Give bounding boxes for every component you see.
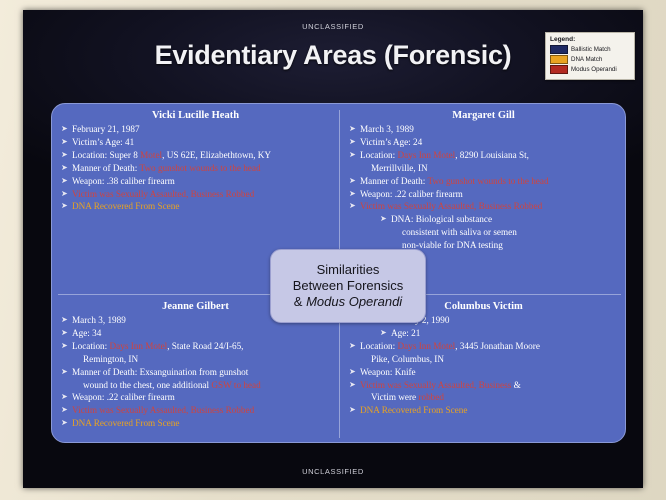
fact-item: ➤Location: Super 8 Motel, US 62E, Elizab… — [61, 149, 330, 161]
bullet-arrow-icon: ➤ — [349, 379, 356, 391]
bullet-arrow-icon: ➤ — [380, 327, 387, 339]
fact-text: Two gunshot wounds to the head — [427, 176, 548, 186]
fact-text: Victim’s Age: 24 — [360, 137, 422, 147]
legend-color-swatch — [550, 45, 568, 54]
fact-item: non-viable for DNA testing — [391, 239, 618, 251]
fact-item: ➤Location: Days Inn Motel, 3445 Jonathan… — [349, 340, 618, 352]
legend-item: Ballistic Match — [550, 45, 630, 54]
fact-item: ➤Location: Days Inn Motel, State Road 24… — [61, 340, 330, 352]
victim-name: Vicki Lucille Heath — [61, 110, 330, 121]
legend-box: Legend: Ballistic MatchDNA MatchModus Op… — [545, 32, 635, 80]
legend-item: Modus Operandi — [550, 65, 630, 74]
bullet-arrow-icon: ➤ — [61, 366, 68, 378]
fact-item: ➤Victim’s Age: 24 — [349, 136, 618, 148]
fact-text: Days Inn Motel — [398, 341, 456, 351]
fact-text: consistent with saliva or semen — [402, 227, 517, 237]
bullet-arrow-icon: ➤ — [349, 123, 356, 135]
fact-text: robbed — [418, 392, 444, 402]
bullet-arrow-icon: ➤ — [380, 213, 387, 225]
fact-text: Age: 34 — [72, 328, 101, 338]
legend-title: Legend: — [550, 36, 630, 43]
fact-text: Age: 21 — [391, 328, 420, 338]
bullet-arrow-icon: ➤ — [61, 327, 68, 339]
fact-item: ➤Victim was Sexually Assaulted, Business… — [349, 200, 618, 212]
fact-item: ➤Weapon: Knife — [349, 366, 618, 378]
fact-item: ➤DNA Recovered From Scene — [61, 200, 330, 212]
bullet-arrow-icon: ➤ — [61, 404, 68, 416]
bullet-arrow-icon: ➤ — [61, 162, 68, 174]
fact-text: Two gunshot wounds to the head — [139, 163, 260, 173]
bullet-arrow-icon: ➤ — [349, 366, 356, 378]
bullet-arrow-icon: ➤ — [61, 391, 68, 403]
fact-text: Remington, IN — [83, 354, 138, 364]
fact-text: Weapon: .22 caliber firearm — [360, 189, 463, 199]
fact-text: DNA: Biological substance — [391, 214, 492, 224]
fact-text: Days Inn Motel — [398, 150, 456, 160]
callout-line-1: Similarities — [317, 262, 380, 278]
fact-item: ➤February 21, 1987 — [61, 123, 330, 135]
bullet-arrow-icon: ➤ — [61, 200, 68, 212]
bullet-arrow-icon: ➤ — [61, 175, 68, 187]
fact-item: ➤Victim was Sexually Assaulted, Business… — [61, 188, 330, 200]
bullet-arrow-icon: ➤ — [61, 417, 68, 429]
bullet-arrow-icon: ➤ — [61, 314, 68, 326]
fact-text: Victim was Sexually Assaulted, Business … — [360, 201, 542, 211]
callout-line-3-italic: Modus Operandi — [306, 294, 402, 309]
bullet-arrow-icon: ➤ — [349, 340, 356, 352]
fact-text: Pike, Columbus, IN — [371, 354, 444, 364]
bullet-arrow-icon: ➤ — [61, 188, 68, 200]
fact-text: Victim was Sexually Assaulted, Business — [360, 380, 511, 390]
fact-item: ➤DNA Recovered From Scene — [349, 404, 618, 416]
fact-text: DNA Recovered From Scene — [360, 405, 467, 415]
fact-item: ➤Weapon: .38 caliber firearm — [61, 175, 330, 187]
fact-text: Location: Super 8 — [72, 150, 140, 160]
callout-line-3: & Modus Operandi — [294, 294, 402, 310]
fact-item: Remington, IN — [72, 353, 330, 365]
fact-item: ➤DNA: Biological substance — [380, 213, 618, 225]
fact-list: ➤January 2, 1990➤Age: 21➤Location: Days … — [349, 314, 618, 417]
fact-item: ➤March 3, 1989 — [349, 123, 618, 135]
fact-text: Motel — [140, 150, 162, 160]
bullet-arrow-icon: ➤ — [349, 404, 356, 416]
legend-item: DNA Match — [550, 55, 630, 64]
fact-item: ➤Weapon: .22 caliber firearm — [61, 391, 330, 403]
fact-list: ➤February 21, 1987➤Victim’s Age: 41➤Loca… — [61, 123, 330, 213]
bullet-arrow-icon: ➤ — [349, 188, 356, 200]
fact-item: ➤Victim was Sexually Assaulted, Business… — [349, 379, 618, 391]
victim-name: Margaret Gill — [349, 110, 618, 121]
legend-item-label: Modus Operandi — [571, 66, 617, 73]
bullet-arrow-icon: ➤ — [61, 136, 68, 148]
callout-line-2: Between Forensics — [293, 278, 404, 294]
callout-line-3-prefix: & — [294, 294, 306, 309]
classification-marking-bottom: UNCLASSIFIED — [23, 467, 643, 476]
fact-text: Victim were — [371, 392, 418, 402]
fact-item: ➤Manner of Death: Two gunshot wounds to … — [349, 175, 618, 187]
fact-text: Weapon: .22 caliber firearm — [72, 392, 175, 402]
bullet-arrow-icon: ➤ — [349, 149, 356, 161]
classification-marking-top: UNCLASSIFIED — [23, 22, 643, 31]
legend-item-label: Ballistic Match — [571, 46, 611, 53]
fact-text: February 21, 1987 — [72, 124, 140, 134]
legend-item-label: DNA Match — [571, 56, 602, 63]
fact-item: ➤Manner of Death: Exsanguination from gu… — [61, 366, 330, 378]
fact-text: Victim was Sexually Assaulted, Business … — [72, 189, 254, 199]
fact-text: Manner of Death: Exsanguination from gun… — [72, 367, 248, 377]
fact-text: Weapon: .38 caliber firearm — [72, 176, 175, 186]
fact-text: , US 62E, Elizabethtown, KY — [162, 150, 271, 160]
fact-text: Manner of Death: — [72, 163, 139, 173]
bullet-arrow-icon: ➤ — [349, 136, 356, 148]
fact-text: Location: — [360, 150, 398, 160]
fact-text: GSW to head — [211, 380, 260, 390]
fact-text: Location: — [360, 341, 398, 351]
fact-text: , 8290 Louisiana St, — [455, 150, 529, 160]
fact-text: Location: — [72, 341, 110, 351]
fact-text: March 3, 1989 — [360, 124, 414, 134]
fact-text: DNA Recovered From Scene — [72, 418, 179, 428]
presentation-slide: UNCLASSIFIED Evidentiary Areas (Forensic… — [23, 10, 643, 488]
fact-text: Manner of Death: — [360, 176, 427, 186]
photo-frame: UNCLASSIFIED Evidentiary Areas (Forensic… — [0, 0, 666, 500]
center-callout: Similarities Between Forensics & Modus O… — [270, 249, 426, 323]
fact-item: ➤Victim’s Age: 41 — [61, 136, 330, 148]
fact-item: ➤Age: 34 — [61, 327, 330, 339]
fact-item: ➤Age: 21 — [380, 327, 618, 339]
fact-text: & — [511, 380, 520, 390]
fact-text: , State Road 24/I-65, — [167, 341, 243, 351]
fact-text: , 3445 Jonathan Moore — [455, 341, 540, 351]
fact-item: Pike, Columbus, IN — [360, 353, 618, 365]
fact-list: ➤March 3, 1989➤Age: 34➤Location: Days In… — [61, 314, 330, 430]
fact-text: DNA Recovered From Scene — [72, 201, 179, 211]
bullet-arrow-icon: ➤ — [61, 149, 68, 161]
fact-item: ➤Weapon: .22 caliber firearm — [349, 188, 618, 200]
fact-item: ➤Manner of Death: Two gunshot wounds to … — [61, 162, 330, 174]
bullet-arrow-icon: ➤ — [61, 340, 68, 352]
fact-text: Victim was Sexually Assaulted, Business … — [72, 405, 254, 415]
fact-item: consistent with saliva or semen — [391, 226, 618, 238]
bullet-arrow-icon: ➤ — [349, 200, 356, 212]
fact-item: wound to the chest, one additional GSW t… — [72, 379, 330, 391]
legend-color-swatch — [550, 55, 568, 64]
bullet-arrow-icon: ➤ — [349, 175, 356, 187]
fact-item: ➤Victim was Sexually Assaulted, Business… — [61, 404, 330, 416]
fact-text: March 3, 1989 — [72, 315, 126, 325]
fact-text: Merrillville, IN — [371, 163, 428, 173]
legend-color-swatch — [550, 65, 568, 74]
fact-list: ➤March 3, 1989➤Victim’s Age: 24➤Location… — [349, 123, 618, 252]
fact-text: Victim’s Age: 41 — [72, 137, 134, 147]
fact-text: wound to the chest, one additional — [83, 380, 211, 390]
fact-item: ➤DNA Recovered From Scene — [61, 417, 330, 429]
fact-item: Merrillville, IN — [360, 162, 618, 174]
fact-text: Weapon: Knife — [360, 367, 416, 377]
fact-text: Days Inn Motel — [110, 341, 168, 351]
fact-item: Victim were robbed — [360, 391, 618, 403]
fact-item: ➤Location: Days Inn Motel, 8290 Louisian… — [349, 149, 618, 161]
bullet-arrow-icon: ➤ — [61, 123, 68, 135]
